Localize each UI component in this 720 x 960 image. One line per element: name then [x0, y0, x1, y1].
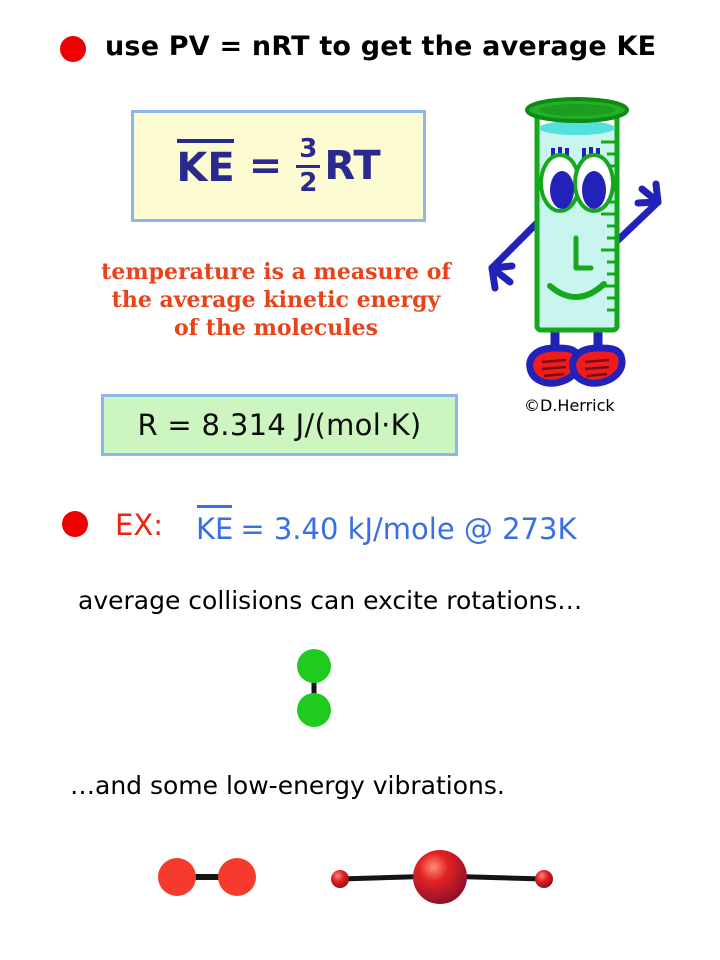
- bullet-dot-headline: [60, 36, 86, 62]
- caption-line-2: the average kinetic energy: [90, 286, 462, 314]
- caption-line-3: of the molecules: [90, 314, 462, 342]
- equals-sign: =: [249, 143, 283, 189]
- rotations-sentence: average collisions can excite rotations…: [78, 586, 582, 615]
- vibrations-sentence: …and some low-energy vibrations.: [70, 771, 505, 800]
- headline-text: use PV = nRT to get the average KE: [105, 31, 656, 62]
- ke-overbar-term: KE: [176, 141, 234, 191]
- bullet-dot-example: [62, 511, 88, 537]
- average-ke-formula: KE = 3 2 RT: [134, 136, 423, 196]
- gas-constant-text: R = 8.314 J/(mol·K): [137, 408, 421, 442]
- rt-term: RT: [324, 143, 380, 189]
- caption-line-1: temperature is a measure of: [90, 258, 462, 286]
- attribution-text: ©D.Herrick: [524, 396, 615, 415]
- example-value-group: KE = 3.40 kJ/mole @ 273K: [196, 508, 576, 546]
- red-diatomic-molecule-icon: [152, 852, 262, 902]
- fraction-numerator: 3: [296, 136, 320, 163]
- temperature-caption: temperature is a measure of the average …: [90, 258, 462, 342]
- example-label: EX:: [115, 508, 163, 542]
- slide-canvas: use PV = nRT to get the average KE KE = …: [0, 0, 720, 960]
- green-diatomic-molecule-icon: [286, 646, 342, 730]
- example-value-text: = 3.40 kJ/mole @ 273K: [240, 512, 576, 546]
- fraction-denominator: 2: [296, 170, 320, 197]
- average-ke-formula-box: KE = 3 2 RT: [131, 110, 426, 222]
- example-ke-overbar-term: KE: [196, 508, 233, 546]
- three-halves-rt-group: 3 2 RT: [296, 136, 380, 196]
- red-triatomic-molecule-icon: [322, 848, 562, 908]
- gas-constant-box: R = 8.314 J/(mol·K): [101, 394, 458, 456]
- fraction-three-halves: 3 2: [296, 136, 320, 196]
- graduated-cylinder-character-icon: [470, 90, 675, 400]
